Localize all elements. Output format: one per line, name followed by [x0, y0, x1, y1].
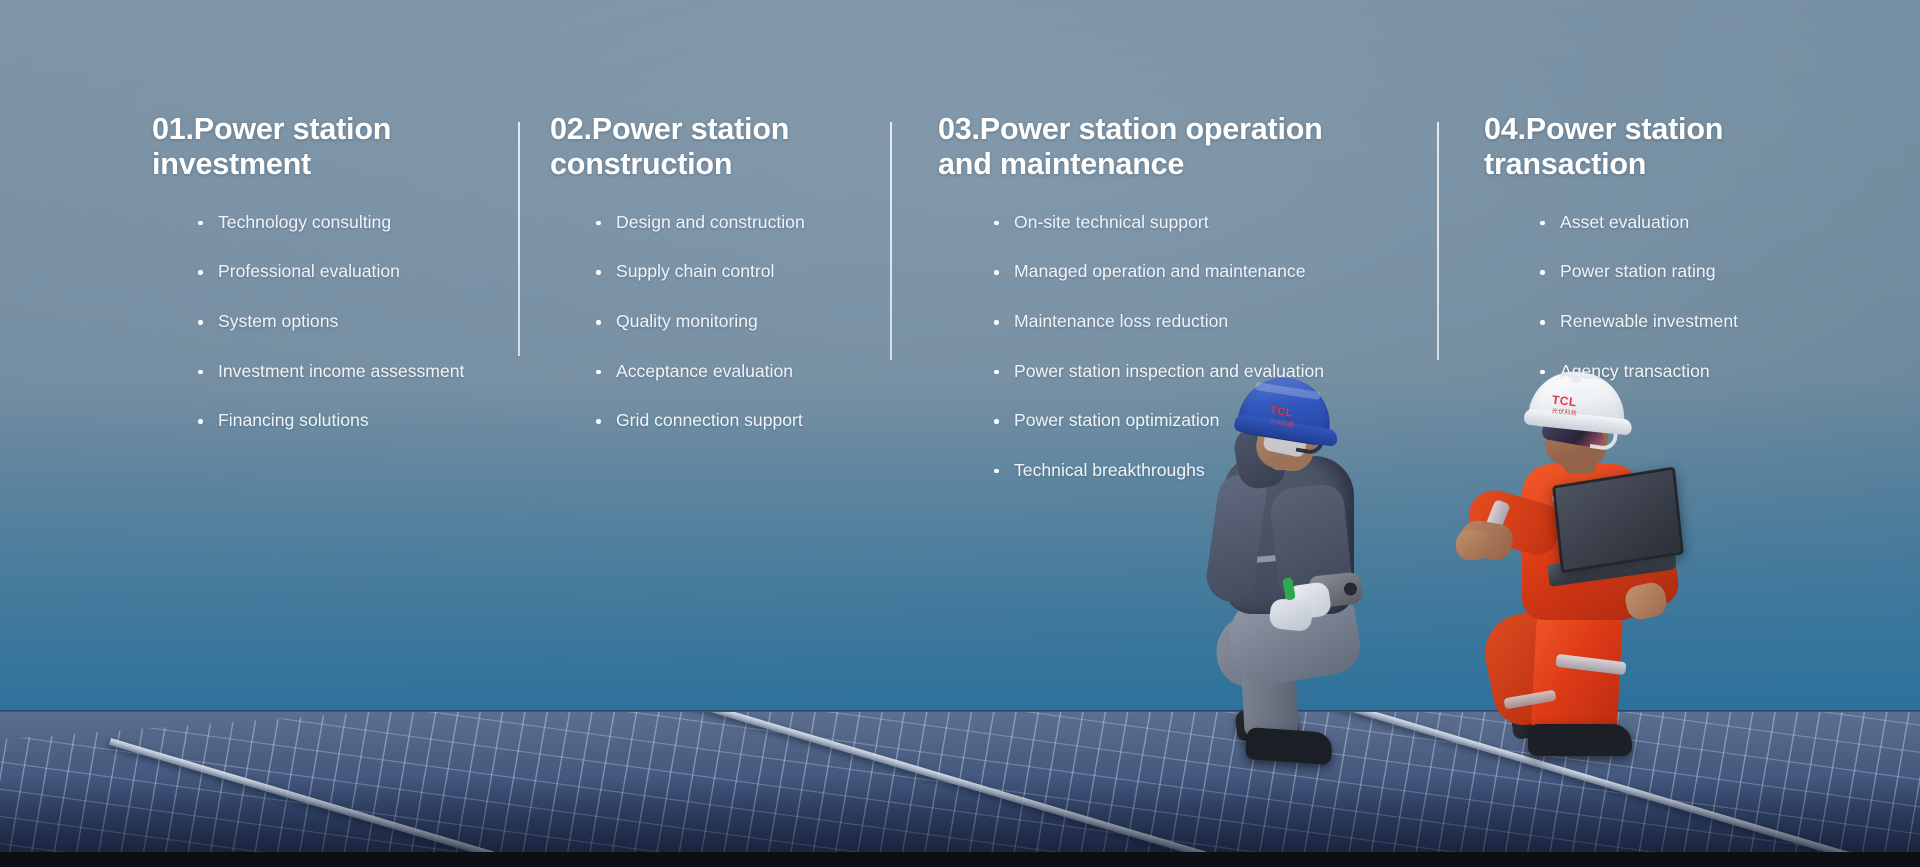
bottom-letterbox-bar: [0, 852, 1920, 867]
boot-icon: [1528, 724, 1632, 756]
list-item: Renewable investment: [1540, 313, 1920, 331]
service-columns: 01.Power station investment Technology c…: [0, 0, 1920, 520]
panel-rail: [1689, 712, 1920, 855]
service-column-construction: 02.Power station construction Design and…: [520, 0, 892, 430]
list-item: Investment income assessment: [198, 363, 520, 381]
work-glove: [1269, 598, 1314, 632]
service-column-investment: 01.Power station investment Technology c…: [0, 0, 520, 430]
service-column-operation-maintenance: 03.Power station operation and maintenan…: [892, 0, 1439, 479]
list-item: Professional evaluation: [198, 263, 520, 281]
column-bullet-list: Asset evaluation Power station rating Re…: [1484, 214, 1920, 380]
boot-icon: [1245, 727, 1333, 765]
list-item: Agency transaction: [1540, 363, 1920, 381]
list-item: Design and construction: [596, 214, 892, 232]
column-title: 02.Power station construction: [550, 112, 850, 183]
list-item: Managed operation and maintenance: [994, 263, 1439, 281]
list-item: Asset evaluation: [1540, 214, 1920, 232]
left-hand: [1456, 530, 1490, 560]
list-item: On-site technical support: [994, 214, 1439, 232]
column-bullet-list: Design and construction Supply chain con…: [550, 214, 892, 430]
list-item: Power station inspection and evaluation: [994, 363, 1439, 381]
column-title: 04.Power station transaction: [1484, 112, 1784, 183]
list-item: Supply chain control: [596, 263, 892, 281]
column-title: 03.Power station operation and maintenan…: [938, 112, 1408, 183]
list-item: Maintenance loss reduction: [994, 313, 1439, 331]
list-item: Power station rating: [1540, 263, 1920, 281]
list-item: Acceptance evaluation: [596, 363, 892, 381]
list-item: Quality monitoring: [596, 313, 892, 331]
list-item: System options: [198, 313, 520, 331]
list-item: Financing solutions: [198, 412, 520, 430]
list-item: Power station optimization: [994, 412, 1439, 430]
column-bullet-list: On-site technical support Managed operat…: [938, 214, 1439, 480]
list-item: Technology consulting: [198, 214, 520, 232]
list-item: Technical breakthroughs: [994, 462, 1439, 480]
list-item: Grid connection support: [596, 412, 892, 430]
column-title: 01.Power station investment: [152, 112, 452, 183]
hero-banner: TCL 光伏科技 TCL 光伏科技 01.Power statio: [0, 0, 1920, 867]
service-column-transaction: 04.Power station transaction Asset evalu…: [1439, 0, 1920, 380]
column-bullet-list: Technology consulting Professional evalu…: [152, 214, 520, 430]
